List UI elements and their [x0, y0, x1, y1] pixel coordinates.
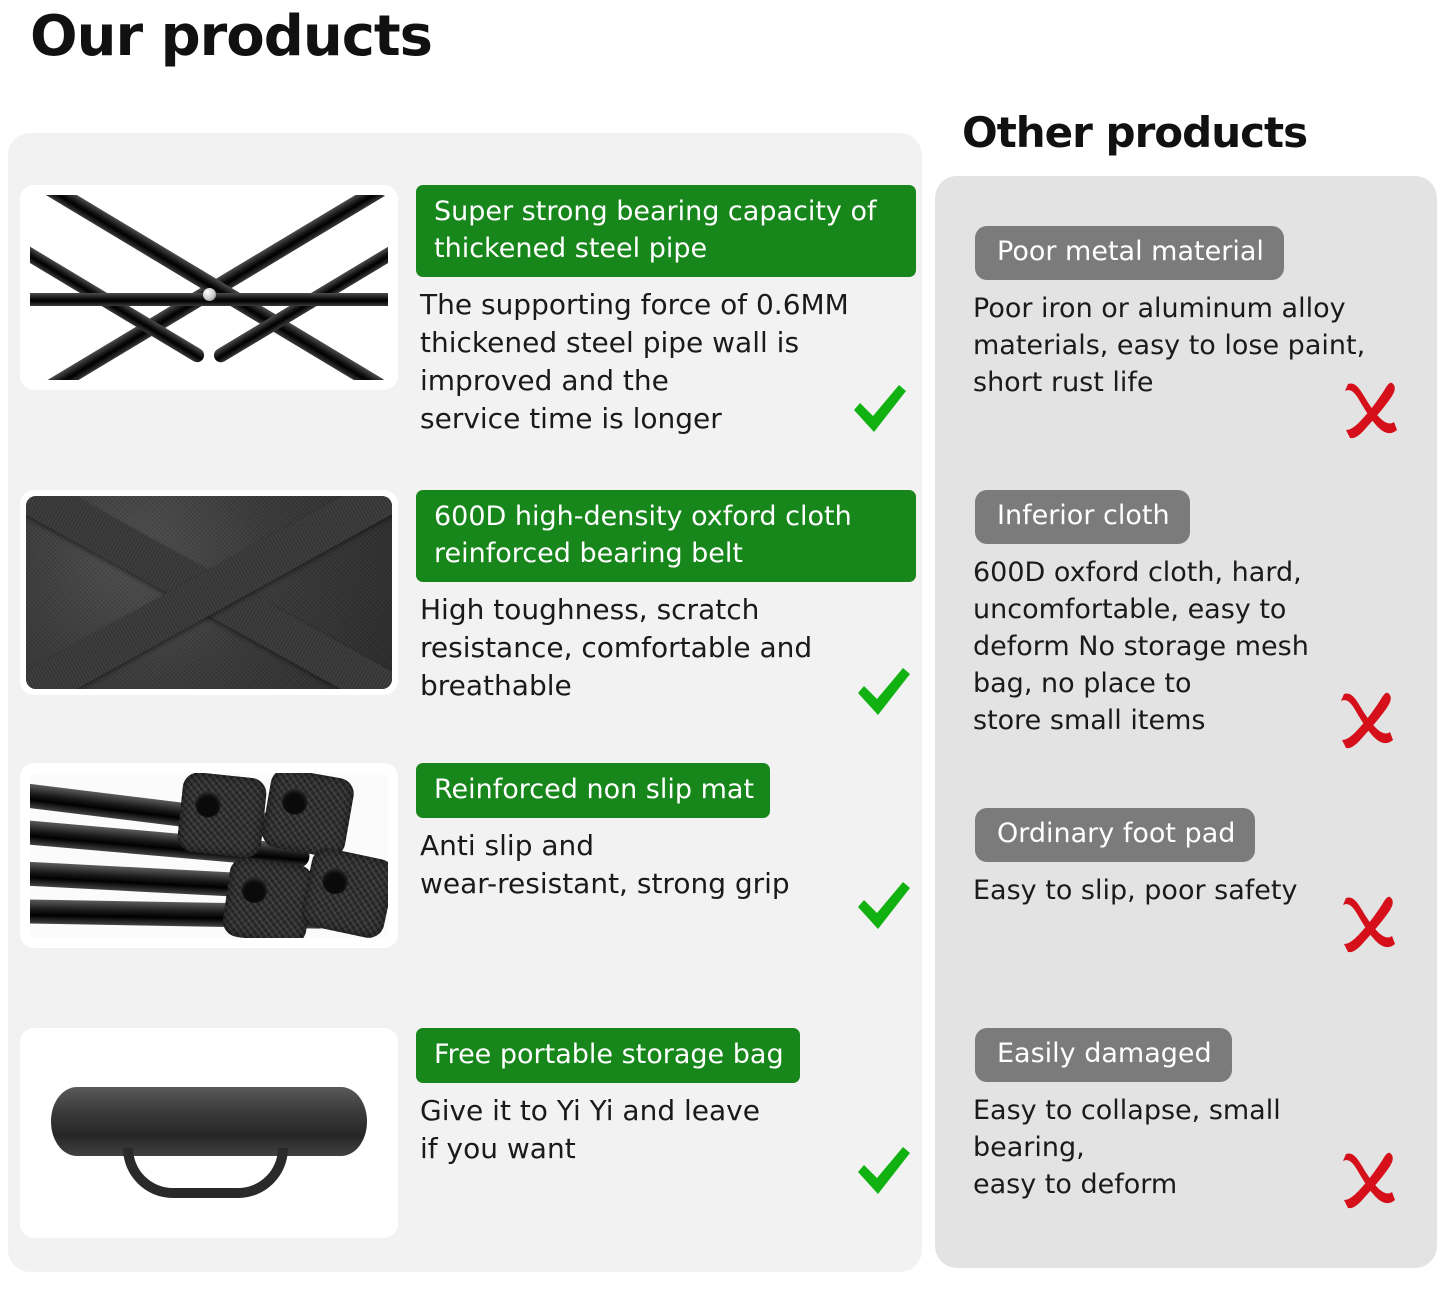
foot-pad	[176, 773, 268, 859]
our-product-text: 600D high-density oxford cloth reinforce…	[416, 490, 916, 705]
check-icon	[855, 1145, 913, 1197]
bag-strap	[123, 1148, 288, 1197]
our-product-body: The supporting force of 0.6MM thickened …	[416, 286, 916, 438]
check-icon	[851, 383, 909, 435]
our-product-title: 600D high-density oxford cloth reinforce…	[416, 490, 916, 582]
oxford-cloth-illustration	[26, 496, 392, 689]
foot-pad	[221, 856, 315, 938]
our-product-body: High toughness, scratch resistance, comf…	[416, 591, 916, 705]
our-product-title: Free portable storage bag	[416, 1028, 800, 1083]
our-product-text: Super strong bearing capacity of thicken…	[416, 185, 916, 438]
cross-icon	[1338, 892, 1400, 958]
our-product-title: Super strong bearing capacity of thicken…	[416, 185, 916, 277]
our-product-text: Free portable storage bag Give it to Yi …	[416, 1028, 916, 1168]
our-product-text: Reinforced non slip mat Anti slip and we…	[416, 763, 916, 903]
our-product-row: Super strong bearing capacity of thicken…	[8, 185, 922, 447]
our-product-row: 600D high-density oxford cloth reinforce…	[8, 490, 922, 725]
foot-pad	[260, 773, 357, 860]
non-slip-foot-pads-photo	[30, 773, 388, 938]
other-product-title: Easily damaged	[975, 1028, 1232, 1082]
other-product-row: Poor metal material Poor iron or aluminu…	[935, 226, 1437, 401]
rivet-icon	[203, 288, 216, 301]
crossed-steel-pipes-photo	[30, 195, 388, 380]
check-icon	[855, 880, 913, 932]
product-photo-card	[20, 1028, 398, 1238]
our-product-row: Free portable storage bag Give it to Yi …	[8, 1028, 922, 1258]
our-product-title: Reinforced non slip mat	[416, 763, 770, 818]
oxford-cloth-bearing-belt-photo	[26, 496, 392, 689]
bag-body	[51, 1087, 366, 1155]
foot-pad	[299, 845, 388, 938]
our-products-heading: Our products	[30, 4, 432, 69]
portable-storage-bag-photo	[30, 1038, 388, 1228]
our-products-panel: Super strong bearing capacity of thicken…	[8, 133, 922, 1272]
storage-bag-illustration	[30, 1038, 388, 1228]
other-product-title: Ordinary foot pad	[975, 808, 1255, 862]
product-photo-card	[20, 490, 398, 695]
our-product-body: Anti slip and wear-resistant, strong gri…	[416, 827, 916, 903]
other-product-title: Inferior cloth	[975, 490, 1190, 544]
our-product-body: Give it to Yi Yi and leave if you want	[416, 1092, 916, 1168]
cross-icon	[1340, 378, 1402, 444]
cross-icon	[1338, 1148, 1400, 1214]
other-product-title: Poor metal material	[975, 226, 1284, 280]
cross-icon	[1336, 688, 1398, 754]
check-icon	[855, 666, 913, 718]
product-photo-card	[20, 763, 398, 948]
our-product-row: Reinforced non slip mat Anti slip and we…	[8, 763, 922, 973]
steel-pipe-illustration	[30, 195, 388, 380]
other-products-heading: Other products	[962, 108, 1307, 157]
product-photo-card	[20, 185, 398, 390]
folded-legs-illustration	[30, 773, 388, 938]
